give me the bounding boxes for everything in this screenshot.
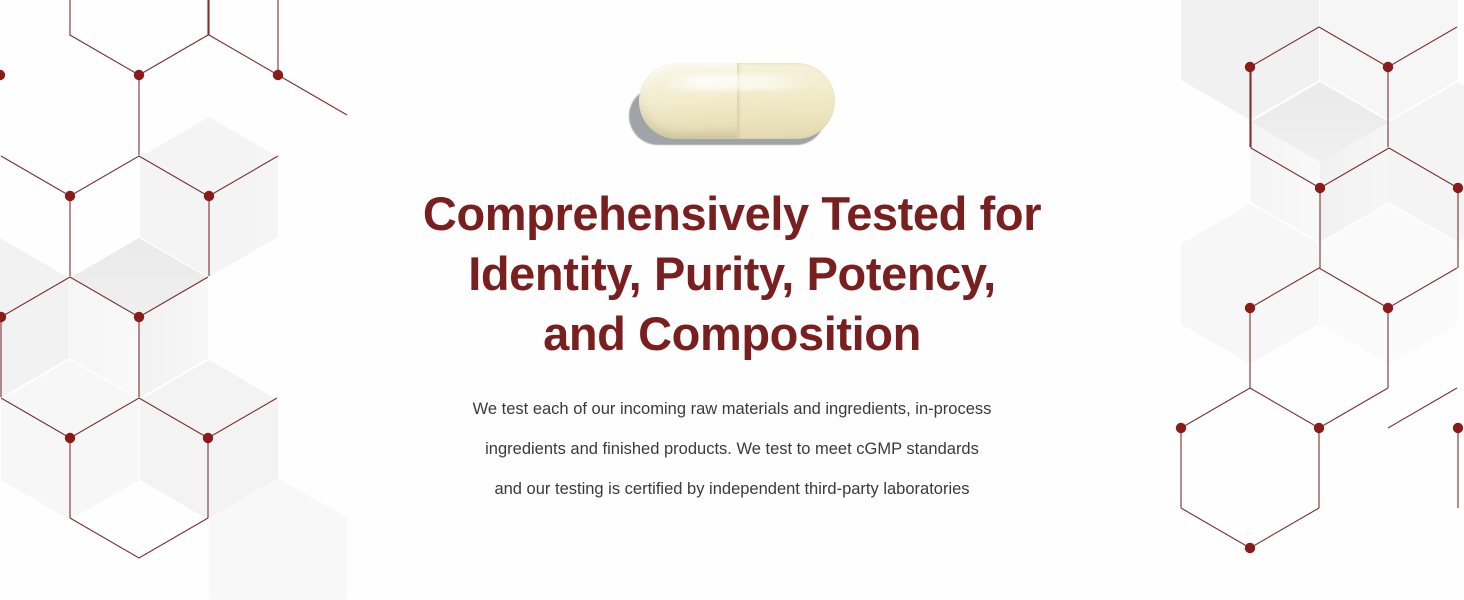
capsule-product-image — [627, 55, 837, 150]
headline-line-3: and Composition — [423, 304, 1041, 364]
banner-content: Comprehensively Tested for Identity, Pur… — [0, 0, 1464, 600]
headline-line-1: Comprehensively Tested for — [423, 184, 1041, 244]
marketing-banner: Comprehensively Tested for Identity, Pur… — [0, 0, 1464, 600]
body-line-2: ingredients and finished products. We te… — [473, 430, 992, 470]
body-description: We test each of our incoming raw materia… — [473, 390, 992, 509]
body-line-3: and our testing is certified by independ… — [473, 470, 992, 510]
capsule-body — [639, 63, 835, 139]
headline-line-2: Identity, Purity, Potency, — [423, 244, 1041, 304]
page-title: Comprehensively Tested for Identity, Pur… — [423, 184, 1041, 364]
body-line-1: We test each of our incoming raw materia… — [473, 390, 992, 430]
capsule-highlight — [663, 74, 813, 90]
